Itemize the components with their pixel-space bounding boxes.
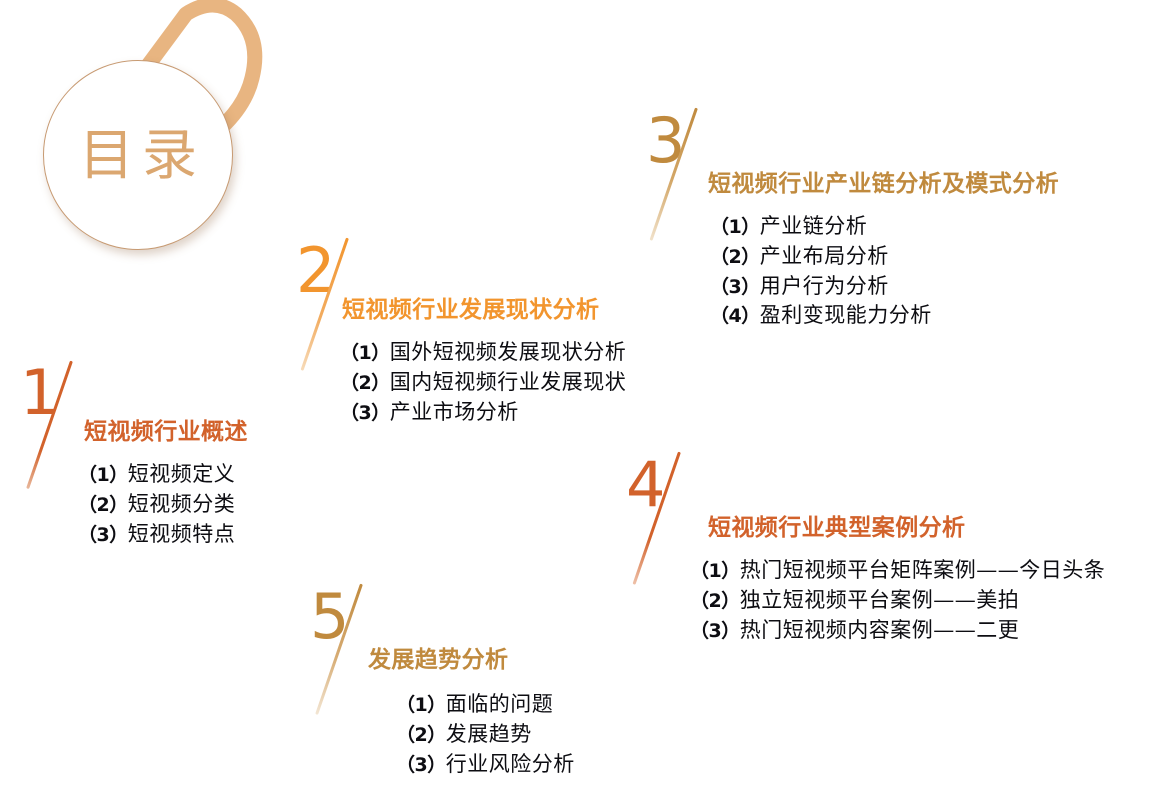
- list-item[interactable]: （2）产业布局分析: [710, 242, 932, 272]
- item-label: 用户行为分析: [760, 274, 889, 298]
- item-label: 短视频定义: [128, 462, 236, 486]
- section-heading: 短视频行业产业链分析及模式分析: [708, 164, 1059, 198]
- toc-circle: 目录: [43, 60, 233, 250]
- item-index: （2）: [78, 494, 128, 516]
- item-index: （2）: [340, 372, 390, 394]
- item-label: 面临的问题: [446, 692, 554, 716]
- item-index: （1）: [396, 694, 446, 716]
- item-label: 短视频分类: [128, 492, 236, 516]
- item-index: （2）: [710, 246, 760, 268]
- list-item[interactable]: （1）产业链分析: [710, 212, 932, 242]
- item-label: 热门短视频内容案例——二更: [740, 618, 1020, 642]
- slide-canvas: 目录 1 短视频行业概述 （1）短视频定义 （2）短视频分类 （3）短视频特点 …: [0, 0, 1157, 812]
- list-item[interactable]: （2）发展趋势: [396, 720, 575, 750]
- list-item[interactable]: （1）热门短视频平台矩阵案例——今日头条: [690, 556, 1105, 586]
- section-heading: 短视频行业典型案例分析: [708, 508, 965, 542]
- item-index: （3）: [396, 754, 446, 776]
- toc-badge: 目录: [36, 0, 300, 262]
- item-index: （1）: [690, 560, 740, 582]
- item-label: 行业风险分析: [446, 752, 575, 776]
- list-item[interactable]: （1）短视频定义: [78, 460, 235, 490]
- page-title: 目录: [71, 128, 205, 183]
- item-label: 发展趋势: [446, 722, 532, 746]
- item-index: （3）: [690, 620, 740, 642]
- item-label: 独立短视频平台案例——美拍: [740, 588, 1020, 612]
- item-index: （2）: [396, 724, 446, 746]
- list-item[interactable]: （3）短视频特点: [78, 520, 235, 550]
- list-item[interactable]: （3）热门短视频内容案例——二更: [690, 616, 1105, 646]
- item-label: 短视频特点: [128, 522, 236, 546]
- section-heading: 短视频行业发展现状分析: [342, 290, 599, 324]
- item-label: 盈利变现能力分析: [760, 303, 932, 327]
- item-index: （3）: [710, 276, 760, 298]
- item-index: （2）: [690, 590, 740, 612]
- item-label: 热门短视频平台矩阵案例——今日头条: [740, 558, 1106, 582]
- item-index: （1）: [340, 342, 390, 364]
- section-number: 3: [646, 110, 685, 172]
- item-label: 产业布局分析: [760, 244, 889, 268]
- item-index: （1）: [78, 464, 128, 486]
- list-item[interactable]: （1）面临的问题: [396, 690, 575, 720]
- list-item[interactable]: （4）盈利变现能力分析: [710, 301, 932, 331]
- section-item-list: （1）短视频定义 （2）短视频分类 （3）短视频特点: [78, 460, 235, 549]
- list-item[interactable]: （2）独立短视频平台案例——美拍: [690, 586, 1105, 616]
- section-item-list: （1）热门短视频平台矩阵案例——今日头条 （2）独立短视频平台案例——美拍 （3…: [690, 556, 1105, 645]
- list-item[interactable]: （2）短视频分类: [78, 490, 235, 520]
- list-item[interactable]: （3）行业风险分析: [396, 750, 575, 780]
- list-item[interactable]: （2）国内短视频行业发展现状: [340, 368, 626, 398]
- list-item[interactable]: （3）用户行为分析: [710, 272, 932, 302]
- section-item-list: （1）国外短视频发展现状分析 （2）国内短视频行业发展现状 （3）产业市场分析: [340, 338, 626, 427]
- section-heading: 发展趋势分析: [368, 640, 508, 674]
- section-item-list: （1）产业链分析 （2）产业布局分析 （3）用户行为分析 （4）盈利变现能力分析: [710, 212, 932, 331]
- item-label: 产业链分析: [760, 214, 868, 238]
- item-label: 国外短视频发展现状分析: [390, 340, 627, 364]
- section-heading: 短视频行业概述: [84, 412, 248, 446]
- item-index: （3）: [78, 524, 128, 546]
- item-index: （4）: [710, 305, 760, 327]
- item-index: （1）: [710, 216, 760, 238]
- list-item[interactable]: （3）产业市场分析: [340, 398, 626, 428]
- list-item[interactable]: （1）国外短视频发展现状分析: [340, 338, 626, 368]
- section-item-list: （1）面临的问题 （2）发展趋势 （3）行业风险分析: [396, 690, 575, 779]
- item-label: 产业市场分析: [390, 400, 519, 424]
- item-label: 国内短视频行业发展现状: [390, 370, 627, 394]
- item-index: （3）: [340, 402, 390, 424]
